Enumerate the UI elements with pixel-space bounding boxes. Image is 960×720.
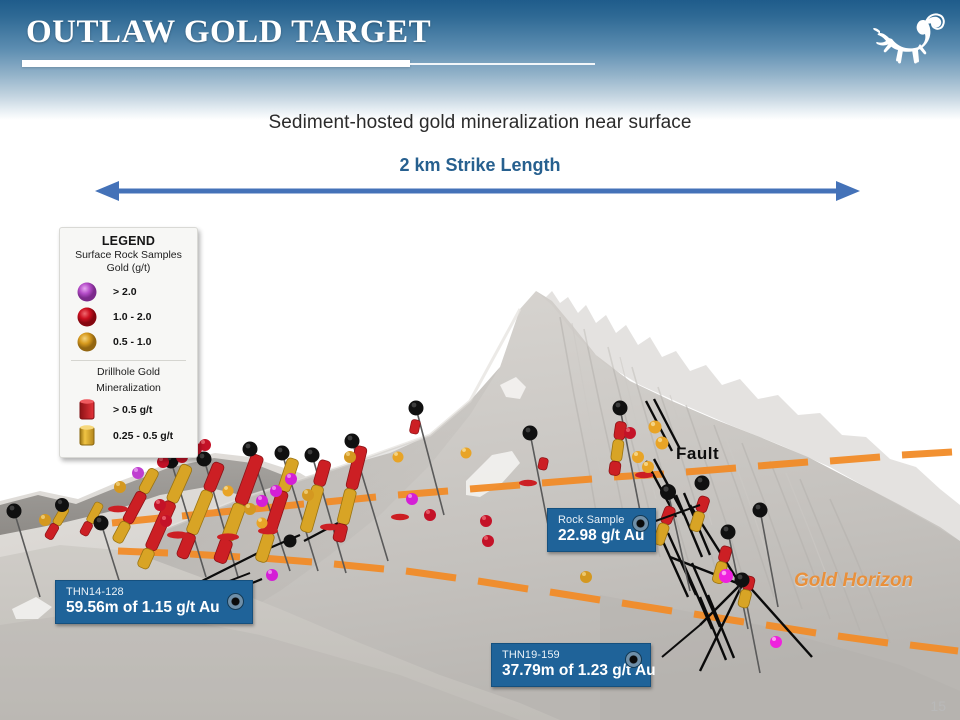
callout-id-thn19-159: THN19-159: [502, 649, 640, 662]
bull-logo-icon: [864, 2, 950, 66]
legend-item-dh-gt0p5: > 0.5 g/t: [67, 397, 190, 423]
title-underline-thick: [22, 60, 410, 67]
legend-item-gt2: > 2.0: [67, 279, 190, 304]
slide-root: OUTLAW GOLD TARGET Sediment-hosted gold …: [0, 0, 960, 720]
legend-section1-line2: Gold (g/t): [67, 262, 190, 275]
legend-label-gt2: > 2.0: [107, 286, 137, 298]
sphere-icon-gold: [67, 331, 107, 353]
cylinder-icon-gold: [67, 424, 107, 448]
legend-item-dh-0p25to0p5: 0.25 - 0.5 g/t: [67, 423, 190, 449]
callout-value-thn19-159: 37.79m of 1.23 g/t Au: [502, 662, 640, 680]
slide-subtitle: Sediment-hosted gold mineralization near…: [0, 112, 960, 134]
legend-drillhole-rows: > 0.5 g/t 0.25 - 0.5 g/t: [67, 397, 190, 449]
legend-label-1to2: 1.0 - 2.0: [107, 311, 152, 323]
fault-label-wrap: Fault: [676, 444, 719, 464]
page-number: 15: [930, 698, 946, 714]
callout-value-rock-sample: 22.98 g/t Au: [558, 527, 645, 545]
legend-label-dh-gt0p5: > 0.5 g/t: [107, 404, 152, 416]
legend-label-0p5to1: 0.5 - 1.0: [107, 336, 152, 348]
callout-rock-sample[interactable]: Rock Sample 22.98 g/t Au: [547, 508, 656, 552]
legend-item-1to2: 1.0 - 2.0: [67, 304, 190, 329]
legend-panel: LEGEND Surface Rock Samples Gold (g/t) >…: [59, 227, 198, 458]
cylinder-icon-red: [67, 398, 107, 422]
page-title: OUTLAW GOLD TARGET: [26, 14, 431, 51]
legend-rock-sample-rows: > 2.0 1.0 - 2.0 0.5 - 1.0: [67, 279, 190, 354]
sphere-icon-red: [67, 306, 107, 328]
legend-section2-line2: Mineralization: [67, 382, 190, 395]
legend-item-0p5to1: 0.5 - 1.0: [67, 329, 190, 354]
sphere-icon-purple: [67, 281, 107, 303]
callout-anchor-dot: [227, 593, 244, 610]
fault-label: Fault: [676, 444, 719, 463]
legend-section2-line1: Drillhole Gold: [67, 366, 190, 379]
title-underline-thin: [410, 63, 595, 65]
legend-title: LEGEND: [67, 234, 190, 248]
gold-horizon-label: Gold Horizon: [794, 570, 913, 592]
strike-length-label: 2 km Strike Length: [0, 155, 960, 176]
callout-anchor-dot: [625, 651, 642, 668]
callout-thn19-159[interactable]: THN19-159 37.79m of 1.23 g/t Au: [491, 643, 651, 687]
callout-value-thn14-128: 59.56m of 1.15 g/t Au: [66, 599, 242, 617]
double-headed-arrow-icon: [95, 176, 860, 206]
callout-anchor-dot: [632, 515, 649, 532]
legend-divider: [71, 360, 186, 361]
legend-label-dh-0p25to0p5: 0.25 - 0.5 g/t: [107, 430, 173, 442]
callout-thn14-128[interactable]: THN14-128 59.56m of 1.15 g/t Au: [55, 580, 253, 624]
legend-section1-line1: Surface Rock Samples: [67, 249, 190, 262]
callout-id-thn14-128: THN14-128: [66, 586, 242, 599]
